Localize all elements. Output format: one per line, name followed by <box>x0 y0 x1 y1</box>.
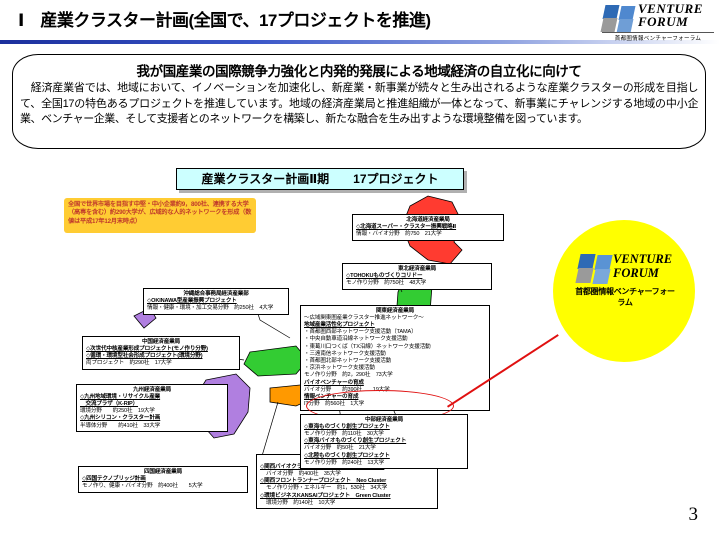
callout-kanto-line-0: ～広域関東圏産業クラスター推進ネットワーク～ <box>304 315 486 322</box>
map-banner-label: 産業クラスター計画Ⅱ期 17プロジェクト <box>177 169 463 189</box>
callout-okinawa[interactable]: 沖縄総合事務局経済産業部 ◇OKINAWA型産業振興プロジェクト 情報・健康・環… <box>143 288 289 315</box>
callout-chugoku-line-0: ◇次世代中核産業形成プロジェクト(モノ作り分野) <box>86 346 236 353</box>
callout-chugoku-line-2: 両プロジェクト 約290社 17大学 <box>86 360 236 367</box>
intro-heading: 我が国産業の国際競争力強化と内発的発展による地域経済の自立化に向けて <box>13 60 705 80</box>
circle-venture-forum-logo: VENTURE FORUM 首都圏情報ベンチャーフォーラム <box>577 252 673 298</box>
logo-line2: FORUM <box>638 15 703 29</box>
callout-chubu-bureau: 中部経済産業局 <box>304 417 464 424</box>
callout-kinki-line-5: 環境分野 約140社 10大学 <box>260 500 434 507</box>
page-title: Ⅰ 産業クラスター計画(全国で、17プロジェクトを推進) <box>18 6 431 31</box>
callout-okinawa-bureau: 沖縄総合事務局経済産業部 <box>147 291 285 298</box>
callout-shikoku[interactable]: 四国経済産業局 ◇四国テクノブリッジ計画 モノ作り、健康・バイオ分野 約400社… <box>78 466 248 493</box>
callout-kanto-line-5: ・三遠南信ネットワーク支援活動 <box>304 351 486 358</box>
logo-subtitle: 首都圏情報ベンチャーフォーラム <box>602 32 714 42</box>
callout-tohoku-line-0: ◇TOHOKUものづくりコリドー <box>346 273 488 280</box>
callout-shikoku-bureau: 四国経済産業局 <box>82 469 244 476</box>
callout-kyushu-line-0: ◇九州地域環境・リサイクル産業 <box>80 394 224 401</box>
callout-kyushu-bureau: 九州経済産業局 <box>80 387 224 394</box>
callout-kanto-line-9: バイオベンチャーの育成 <box>304 380 486 387</box>
logo-wordmark: VENTURE FORUM <box>638 2 703 29</box>
intro-box: 我が国産業の国際競争力強化と内発的発展による地域経済の自立化に向けて 経済産業省… <box>12 54 706 149</box>
callout-kyushu[interactable]: 九州経済産業局 ◇九州地域環境・リサイクル産業 交流プラザ（K-RIP） 環境分… <box>76 384 228 432</box>
callout-chubu[interactable]: 中部経済産業局 ◇東海ものづくり創生プロジェクト モノ作り分野 約110社 30… <box>300 414 468 469</box>
callout-shikoku-line-1: モノ作り、健康・バイオ分野 約400社 5大学 <box>82 483 244 490</box>
logo-diamond-icon <box>602 5 636 31</box>
callout-hokkaido-line-0: ◇北海道スーパー・クラスター振興戦略Ⅱ <box>356 224 500 231</box>
callout-kinki-line-4: ◇環境ビジネスKANSAIプロジェクト Green Cluster <box>260 493 434 500</box>
callout-kyushu-line-4: 半導体分野 約410社 33大学 <box>80 423 224 430</box>
callout-tohoku-bureau: 東北経済産業局 <box>346 266 488 273</box>
callout-hokkaido-line-1: 情報・バイオ分野 約750 21大学 <box>356 231 500 238</box>
map-panel: 産業クラスター計画Ⅱ期 17プロジェクト 全国で世界市場を目指す中堅・中小企業約… <box>0 158 720 518</box>
callout-chubu-line-5: モノ作り分野 約240社 13大学 <box>304 460 464 467</box>
callout-tohoku-line-1: モノ作り分野 約750社 48大学 <box>346 280 488 287</box>
callout-chubu-line-0: ◇東海ものづくり創生プロジェクト <box>304 424 464 431</box>
callout-chubu-line-3: バイオ分野 約50社 21大学 <box>304 445 464 452</box>
intro-body: 経済産業省では、地域において、イノベーションを加速化し、新産業・新事業が続々と生… <box>13 80 705 128</box>
callout-hokkaido[interactable]: 北海道経済産業局 ◇北海道スーパー・クラスター振興戦略Ⅱ 情報・バイオ分野 約7… <box>352 214 504 241</box>
callout-tohoku[interactable]: 東北経済産業局 ◇TOHOKUものづくりコリドー モノ作り分野 約750社 48… <box>342 263 492 290</box>
callout-kanto-bureau: 関東経済産業局 <box>304 308 486 315</box>
map-banner: 産業クラスター計画Ⅱ期 17プロジェクト <box>176 168 464 190</box>
callout-kyushu-line-3: ◇九州シリコン・クラスター計画 <box>80 415 224 422</box>
callout-kinki-line-3: モノ作り分野・エネルギー 約1，530社 34大学 <box>260 485 434 492</box>
slide-root: Ⅰ 産業クラスター計画(全国で、17プロジェクトを推進) VENTURE FOR… <box>0 0 720 540</box>
map-region-chugoku <box>244 346 308 376</box>
circle-logo-line2: FORUM <box>613 266 672 280</box>
circle-logo-subtitle: 首都圏情報ベンチャーフォーラム <box>573 286 677 308</box>
callout-kanto-line-4: ・東葛川口つくば（TX沿線）ネットワーク支援活動 <box>304 344 486 351</box>
callout-okinawa-line-1: 情報・健康・環境・加工交易分野 約250社 4大学 <box>147 305 285 312</box>
page-number: 3 <box>689 504 699 526</box>
callout-kanto-line-3: ・中央自動車道沿線ネットワーク支援活動 <box>304 336 486 343</box>
circle-logo-wordmark: VENTURE FORUM <box>613 252 672 280</box>
callout-hokkaido-bureau: 北海道経済産業局 <box>356 217 500 224</box>
callout-chubu-line-4: ◇北陸ものづくり創生プロジェクト <box>304 453 464 460</box>
callout-shikoku-line-0: ◇四国テクノブリッジ計画 <box>82 476 244 483</box>
callout-chugoku[interactable]: 中国経済産業局 ◇次世代中核産業形成プロジェクト(モノ作り分野) ◇循環・環境型… <box>82 336 240 370</box>
callout-kanto-line-8: モノ作り分野 約2，290社 73大学 <box>304 372 486 379</box>
circle-logo-diamond-icon <box>577 254 611 282</box>
callout-okinawa-line-0: ◇OKINAWA型産業振興プロジェクト <box>147 298 285 305</box>
venture-forum-logo: VENTURE FORUM 首都圏情報ベンチャーフォーラム <box>602 2 714 40</box>
callout-chugoku-bureau: 中国経済産業局 <box>86 339 236 346</box>
circle-logo-line1: VENTURE <box>613 252 672 266</box>
